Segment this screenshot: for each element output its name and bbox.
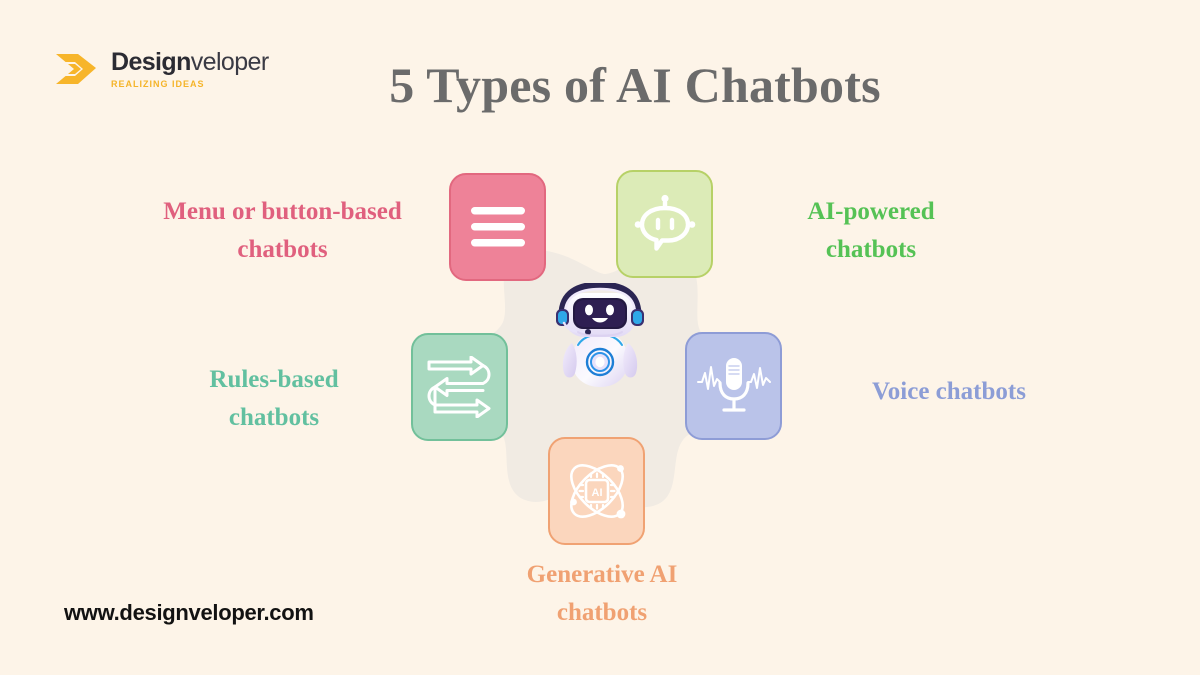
chatbot-head-icon (632, 191, 698, 257)
page-title: 5 Types of AI Chatbots (0, 56, 1200, 114)
label-generative-ai: Generative AI chatbots (489, 556, 715, 632)
ai-chip-label: AI (591, 487, 602, 499)
label-rules-based: Rules-based chatbots (165, 361, 383, 437)
label-menu-button-based: Menu or button-based chatbots (150, 193, 415, 269)
label-ai-powered: AI-powered chatbots (760, 193, 982, 269)
hamburger-menu-icon (469, 204, 527, 250)
infographic-canvas: Designveloper REALIZING IDEAS 5 Types of… (0, 0, 1200, 675)
microphone-waveform-icon (696, 355, 772, 417)
tile-rules-based[interactable] (411, 333, 508, 441)
tile-generative-ai[interactable]: AI (548, 437, 645, 545)
tile-menu-button-based[interactable] (449, 173, 546, 281)
website-url: www.designveloper.com (64, 600, 314, 626)
tile-voice[interactable] (685, 332, 782, 440)
ai-chip-atom-icon: AI (562, 456, 632, 526)
tile-ai-powered[interactable] (616, 170, 713, 278)
zigzag-flow-arrows-icon (425, 356, 495, 418)
label-voice: Voice chatbots (840, 373, 1058, 411)
robot-mascot-with-headset-icon (548, 283, 652, 393)
